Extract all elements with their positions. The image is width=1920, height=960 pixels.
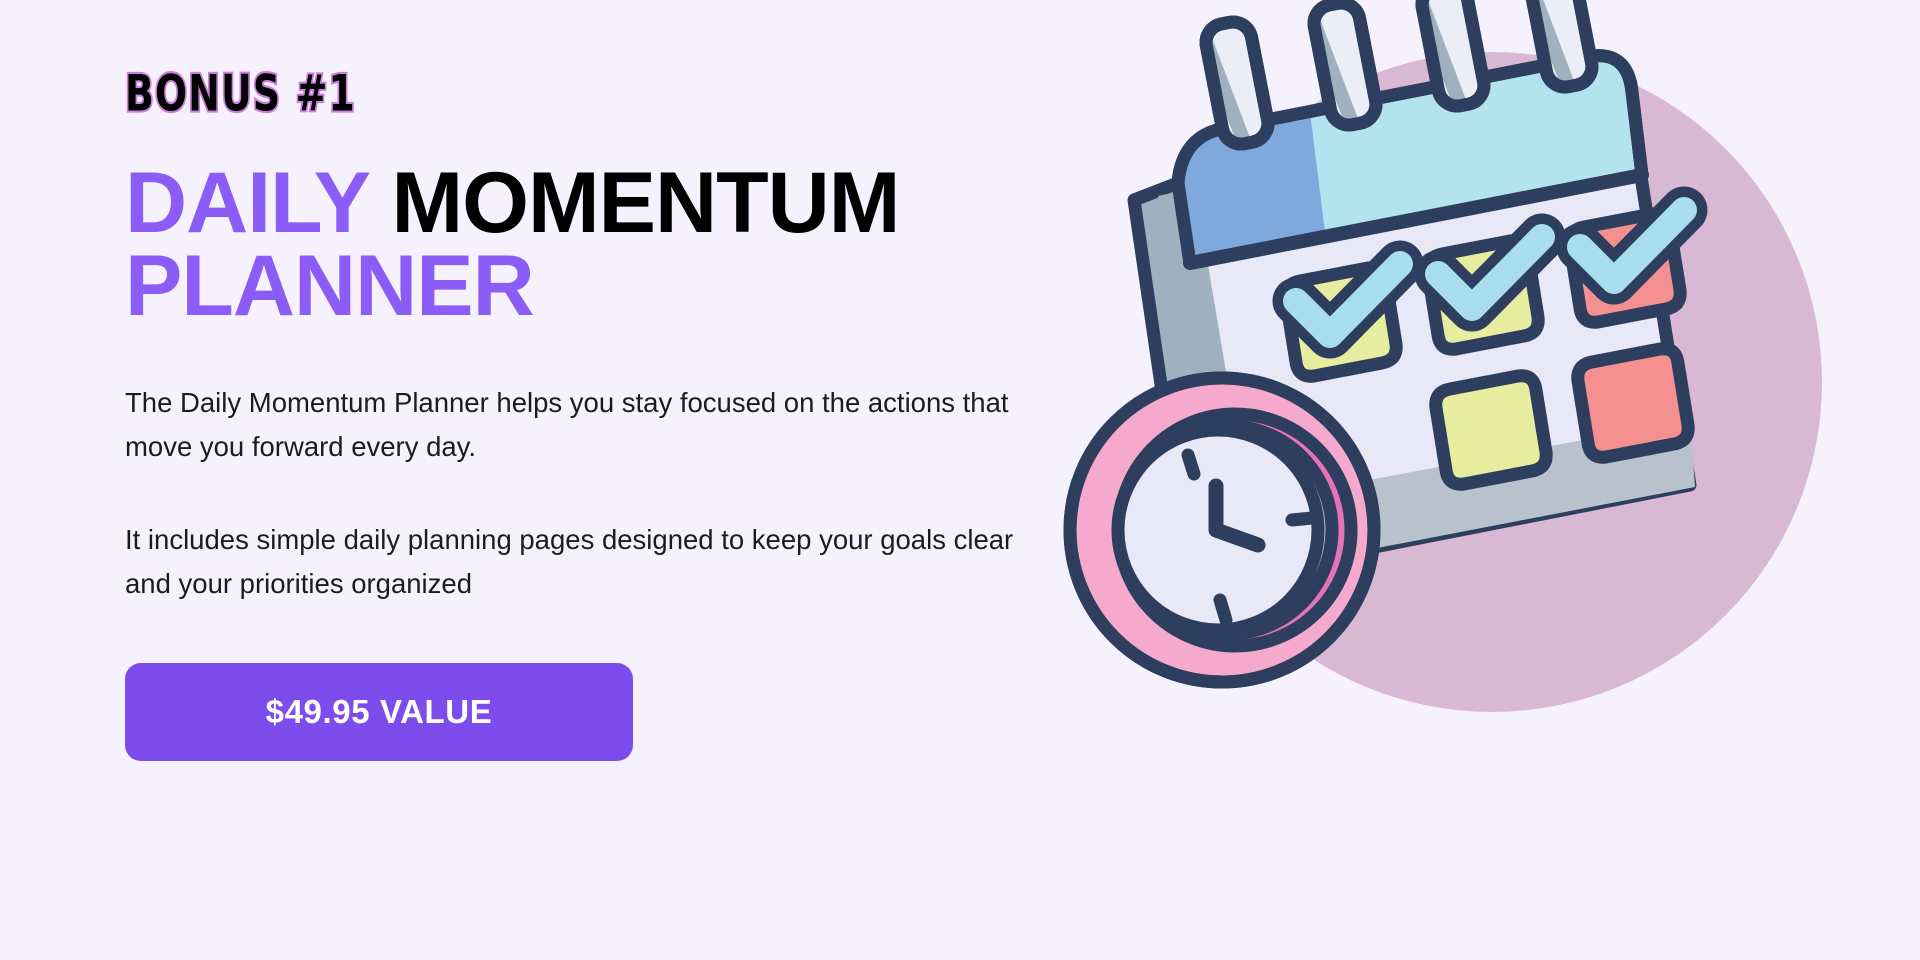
clock-tick-top xyxy=(1188,455,1194,474)
description-paragraph-1: The Daily Momentum Planner helps you sta… xyxy=(125,381,1015,470)
headline-accent-part-2: PLANNER xyxy=(125,238,534,334)
text-column: BONUS #1 DAILY MOMENTUMPLANNER The Daily… xyxy=(0,0,1030,960)
calendar-checked-cell-2 xyxy=(1428,237,1542,349)
value-badge-button[interactable]: $49.95 VALUE xyxy=(125,663,633,761)
bonus-banner: BONUS #1 DAILY MOMENTUMPLANNER The Daily… xyxy=(0,0,1920,960)
calendar-with-clock-icon xyxy=(1030,0,1920,960)
page-title: DAILY MOMENTUMPLANNER xyxy=(125,162,915,329)
clock-tick-bottom xyxy=(1220,600,1226,620)
bonus-eyebrow-label: BONUS #1 xyxy=(125,68,356,118)
headline-accent-part-1: DAILY xyxy=(125,155,391,251)
illustration-column xyxy=(1030,0,1920,960)
calendar-cell-yellow xyxy=(1436,376,1546,484)
headline-dark-part: MOMENTUM xyxy=(391,155,899,251)
calendar-checked-cell-3 xyxy=(1570,210,1684,322)
clock xyxy=(1070,378,1374,682)
calendar-cell-salmon xyxy=(1578,349,1688,457)
clock-tick-right xyxy=(1292,518,1312,520)
description-paragraph-2: It includes simple daily planning pages … xyxy=(125,518,1015,607)
